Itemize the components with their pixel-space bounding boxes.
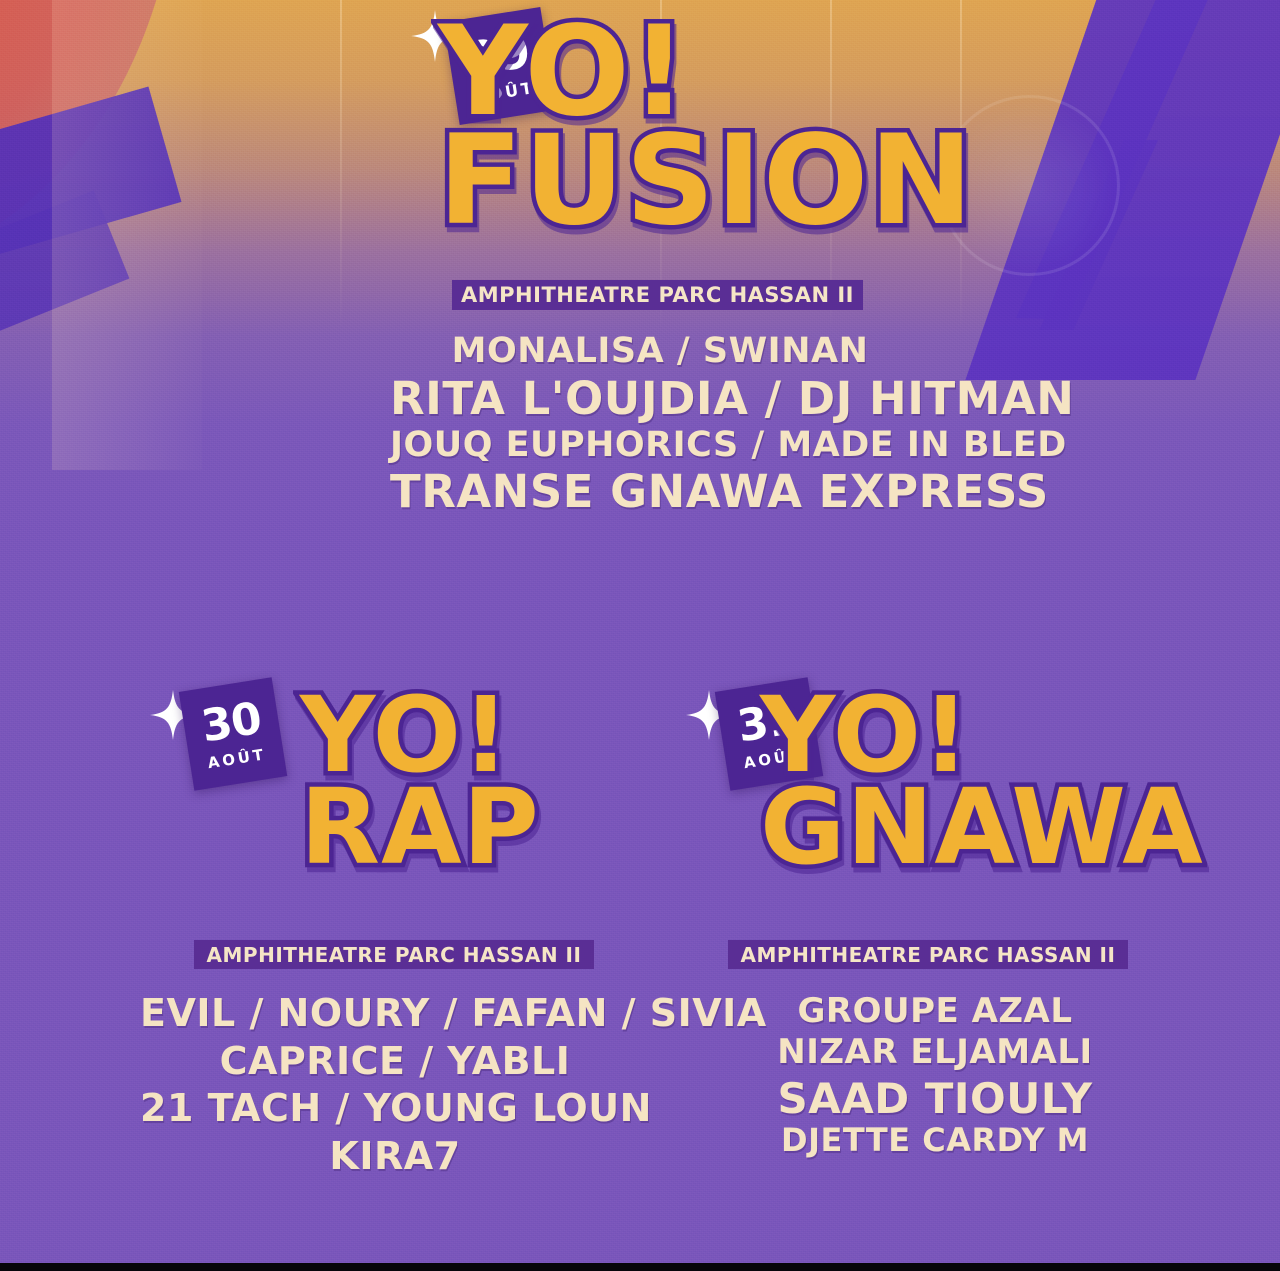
lineup-act: SAAD TIOULY [690,1077,1180,1121]
lineup-act: MONALISA / SWINAN [390,333,930,369]
date-badge-day: 30 [199,697,264,750]
lineup-act: GROUPE AZAL [690,994,1180,1029]
day-title-gnawa: YO! GNAWA [760,690,1140,873]
bottom-black-bar [0,1263,1280,1271]
title-line-2: RAP [300,782,600,874]
day-title-fusion: YO! FUSION [438,18,908,236]
lineup-act: JOUQ EUPHORICS / MADE IN BLED [390,427,930,463]
day-title-rap: YO! RAP [300,690,600,873]
lineup-act: CAPRICE / YABLI [140,1042,650,1082]
venue-banner-rap: AMPHITHEATRE PARC HASSAN II [194,940,594,969]
title-line-2: FUSION [438,127,908,236]
title-line-2: GNAWA [760,782,1140,874]
lineup-act: EVIL / NOURY / FAFAN / SIVIA [140,994,650,1034]
venue-banner-fusion: AMPHITHEATRE PARC HASSAN II [452,280,863,310]
venue-banner-gnawa: AMPHITHEATRE PARC HASSAN II [728,940,1128,969]
background-streak-1 [340,0,342,330]
lineup-act: KIRA7 [140,1137,650,1177]
festival-poster: 29 AOÛT YO! FUSION AMPHITHEATRE PARC HAS… [0,0,1280,1271]
lineup-act: TRANSE GNAWA EXPRESS [390,469,930,516]
background-light-column [52,0,202,470]
lineup-act: 21 TACH / YOUNG LOUN [140,1089,650,1129]
lineup-act: NIZAR ELJAMALI [690,1035,1180,1070]
lineup-rap: EVIL / NOURY / FAFAN / SIVIA CAPRICE / Y… [140,994,650,1176]
lineup-act: DJETTE CARDY M [690,1124,1180,1157]
date-badge-30: 30 AOÛT [179,677,287,790]
lineup-gnawa: GROUPE AZAL NIZAR ELJAMALI SAAD TIOULY D… [690,994,1180,1158]
lineup-fusion: MONALISA / SWINAN RITA L'OUJDIA / DJ HIT… [390,333,930,515]
lineup-act: RITA L'OUJDIA / DJ HITMAN [390,376,930,423]
